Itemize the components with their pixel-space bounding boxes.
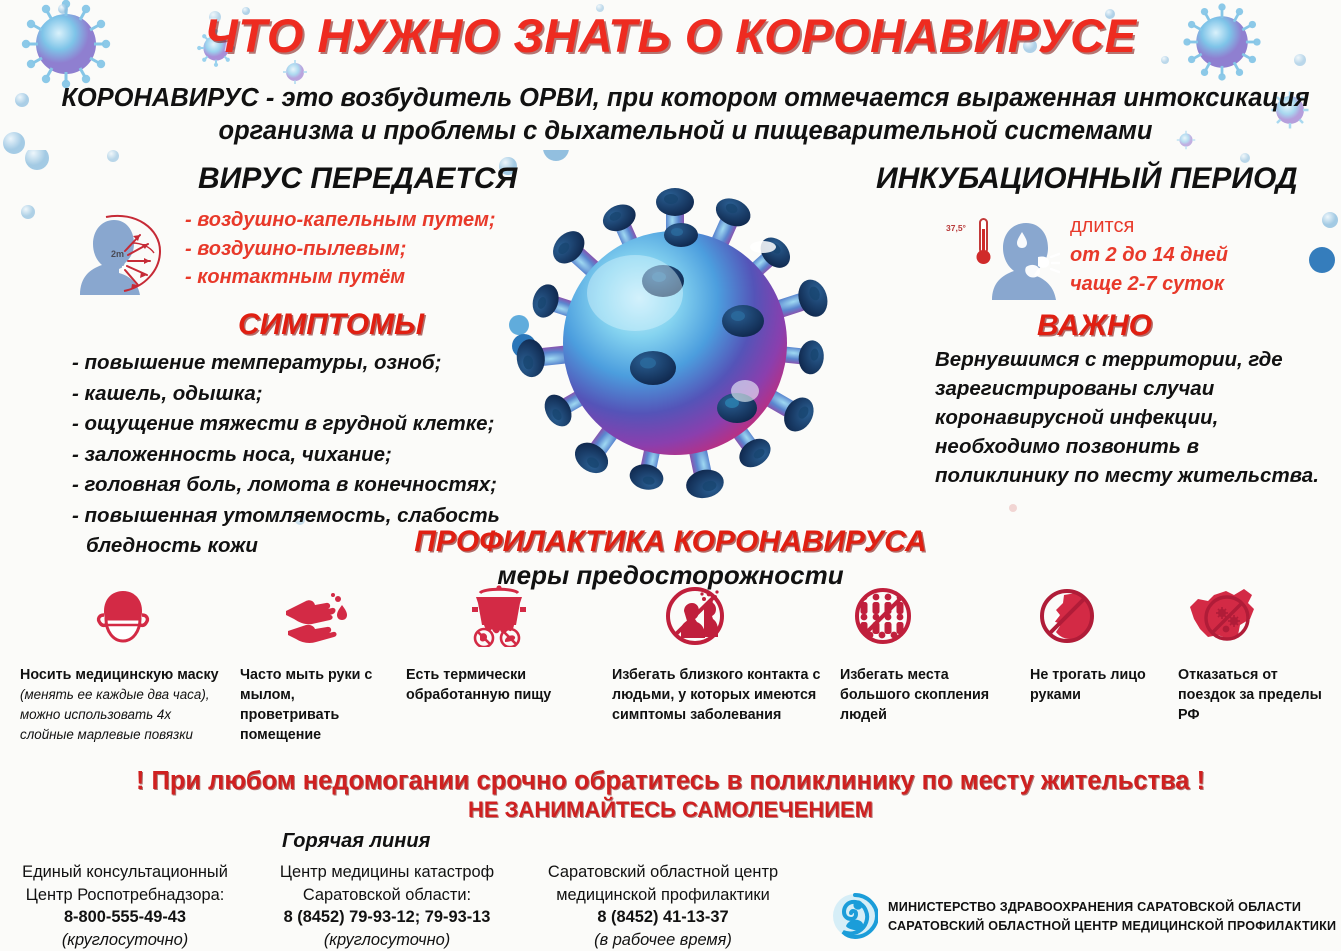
footer-hours: (круглосуточно) — [252, 929, 522, 951]
no-travel-map-icon — [1182, 585, 1260, 647]
transmission-heading: ВИРУС ПЕРЕДАЕТСЯ — [198, 162, 517, 196]
prevention-item-mask: Носить медицинскую маску (менять ее кажд… — [20, 585, 225, 745]
ministry-line-1: МИНИСТЕРСТВО ЗДРАВООХРАНЕНИЯ САРАТОВСКОЙ… — [888, 898, 1336, 917]
footer-org-name: Центр медицины катастроф — [252, 861, 522, 884]
symptom-item: - кашель, одышка; — [72, 379, 500, 410]
prevention-caption: Носить медицинскую маску (менять ее кажд… — [20, 665, 225, 745]
prevention-caption: Избегать места большого скопления людей — [840, 665, 1020, 725]
symptom-item: - головная боль, ломота в конечностях; — [72, 470, 500, 501]
transmission-list: - воздушно-капельным путем; - воздушно-п… — [185, 206, 496, 292]
incubation-line-3: чаще 2-7 суток — [1070, 270, 1228, 299]
coronavirus-illustration — [500, 158, 850, 523]
incubation-line-1: длится — [1070, 212, 1228, 241]
lead-paragraph: КОРОНАВИРУС - это возбудитель ОРВИ, при … — [60, 82, 1311, 148]
prevention-caption-bold: Отказаться от поездок за пределы РФ — [1178, 667, 1322, 723]
head-droplet-spread-icon: 2m — [62, 203, 178, 295]
page-title: ЧТО НУЖНО ЗНАТЬ О КОРОНАВИРУСЕ — [0, 8, 1341, 63]
warning-line-2: НЕ ЗАНИМАЙТЕСЬ САМОЛЕЧЕНИЕМ — [0, 797, 1341, 823]
incubation-line-2: от 2 до 14 дней — [1070, 241, 1228, 270]
prevention-caption: Не трогать лицо руками — [1030, 665, 1165, 705]
hotline-label: Горячая линия — [282, 830, 430, 853]
symptom-item: - заложенность носа, чихание; — [72, 440, 500, 471]
footer-org-name: Саратовской области: — [252, 884, 522, 907]
prevention-caption: Отказаться от поездок за пределы РФ — [1178, 665, 1328, 725]
footer-phone[interactable]: 8 (8452) 79-93-12; 79-93-13 — [252, 906, 522, 929]
prevention-item-no-close-contact: Избегать близкого контакта с людьми, у к… — [612, 585, 822, 725]
prevention-caption: Часто мыть руки с мылом, проветривать по… — [240, 665, 390, 745]
important-heading: ВАЖНО — [1037, 309, 1152, 343]
symptom-item: - повышение температуры, озноб; — [72, 348, 500, 379]
prevention-caption-bold: Не трогать лицо руками — [1030, 667, 1146, 703]
symptom-item: - ощущение тяжести в грудной клетке; — [72, 409, 500, 440]
washing-hands-icon — [280, 589, 350, 647]
prevention-caption-italic: (менять ее каждые два часа), можно испол… — [20, 687, 210, 742]
footer-hours: (в рабочее время) — [518, 929, 808, 951]
prevention-caption-bold: Носить медицинскую маску — [20, 667, 219, 683]
footer-column-disaster-medicine: Центр медицины катастроф Саратовской обл… — [252, 861, 522, 951]
face-mask-icon — [92, 585, 154, 647]
warning-line-1: ! При любом недомогании срочно обратитес… — [0, 767, 1341, 796]
important-text: Вернувшимся с территории, где зарегистри… — [935, 345, 1330, 490]
ministry-line-2: САРАТОВСКИЙ ОБЛАСТНОЙ ЦЕНТР МЕДИЦИНСКОЙ … — [888, 917, 1336, 936]
prevention-caption: Избегать близкого контакта с людьми, у к… — [612, 665, 822, 725]
prevention-items-row: Носить медицинскую маску (менять ее кажд… — [0, 585, 1341, 760]
poster-root: ЧТО НУЖНО ЗНАТЬ О КОРОНАВИРУСЕ КОРОНАВИР… — [0, 0, 1341, 945]
transmission-item: - воздушно-пылевым; — [185, 235, 496, 264]
prevention-item-wash-hands: Часто мыть руки с мылом, проветривать по… — [240, 585, 390, 745]
footer-phone[interactable]: 8 (8452) 41-13-37 — [518, 906, 808, 929]
footer-hours: (круглосуточно) — [0, 929, 250, 951]
no-close-contact-icon — [664, 585, 726, 647]
footer-column-prevention-center: Саратовский областной центр медицинской … — [518, 861, 808, 951]
ministry-text: МИНИСТЕРСТВО ЗДРАВООХРАНЕНИЯ САРАТОВСКОЙ… — [888, 898, 1336, 936]
prevention-caption-bold: Избегать близкого контакта с людьми, у к… — [612, 667, 820, 723]
transmission-item: - контактным путём — [185, 263, 496, 292]
temperature-label: 37,5° — [946, 223, 967, 233]
prevention-heading: ПРОФИЛАКТИКА КОРОНАВИРУСА — [0, 525, 1341, 559]
symptoms-heading: СИМПТОМЫ — [238, 308, 424, 342]
footer-org-name: Единый консультационный — [0, 861, 250, 884]
no-crowds-icon — [852, 585, 914, 647]
cooking-pot-icon — [462, 585, 536, 647]
prevention-item-no-travel: Отказаться от поездок за пределы РФ — [1178, 585, 1328, 725]
incubation-heading: ИНКУБАЦИОННЫЙ ПЕРИОД — [876, 162, 1298, 196]
health-ministry-logo — [832, 893, 878, 939]
prevention-caption-bold: Избегать места большого скопления людей — [840, 667, 989, 723]
distance-label: 2m — [111, 249, 124, 259]
prevention-item-no-crowds: Избегать места большого скопления людей — [840, 585, 1020, 725]
prevention-caption-bold: Есть термически обработанную пищу — [406, 667, 551, 703]
transmission-item: - воздушно-капельным путем; — [185, 206, 496, 235]
footer-org-name: медицинской профилактики — [518, 884, 808, 907]
footer-org-name: Центр Роспотребнадзора: — [0, 884, 250, 907]
coughing-person-thermometer-icon: 37,5° — [930, 205, 1060, 300]
incubation-text: длится от 2 до 14 дней чаще 2-7 суток — [1070, 212, 1228, 299]
footer-column-rospotrebnadzor: Единый консультационный Центр Роспотребн… — [0, 861, 250, 951]
footer-org-name: Саратовский областной центр — [518, 861, 808, 884]
footer-phone[interactable]: 8-800-555-49-43 — [0, 906, 250, 929]
prevention-item-cooked-food: Есть термически обработанную пищу — [406, 585, 591, 705]
no-touch-face-icon — [1036, 585, 1098, 647]
prevention-item-no-touch-face: Не трогать лицо руками — [1030, 585, 1165, 705]
prevention-caption-bold: Часто мыть руки с мылом, проветривать по… — [240, 667, 372, 743]
prevention-caption: Есть термически обработанную пищу — [406, 665, 591, 705]
